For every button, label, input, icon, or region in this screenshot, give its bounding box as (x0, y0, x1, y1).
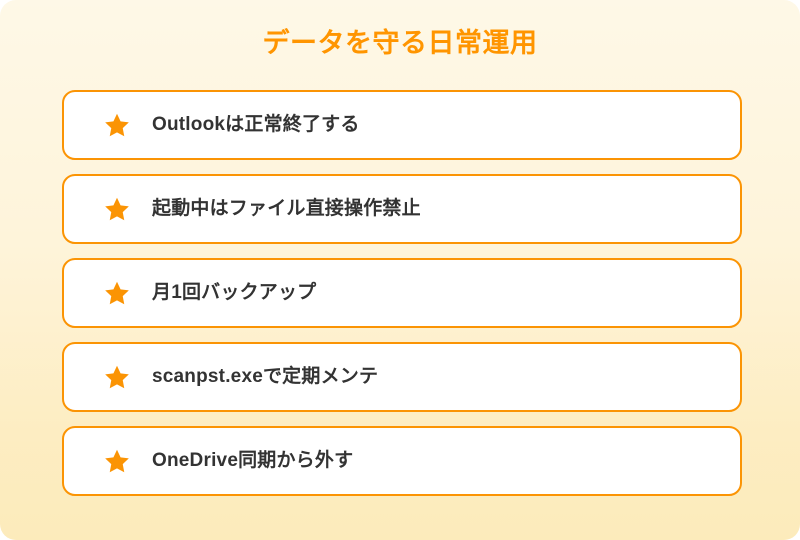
list-item-label: Outlookは正常終了する (152, 114, 360, 137)
star-icon (104, 448, 130, 474)
slide-root: データを守る日常運用 Outlookは正常終了する 起動中はファイル直接操作禁止… (0, 0, 800, 540)
checklist: Outlookは正常終了する 起動中はファイル直接操作禁止 月1回バックアップ … (62, 90, 742, 496)
star-icon (104, 196, 130, 222)
list-item[interactable]: OneDrive同期から外す (62, 426, 742, 496)
list-item[interactable]: 起動中はファイル直接操作禁止 (62, 174, 742, 244)
list-item-label: 月1回バックアップ (152, 282, 316, 305)
star-icon (104, 280, 130, 306)
list-item[interactable]: scanpst.exeで定期メンテ (62, 342, 742, 412)
star-icon (104, 112, 130, 138)
page-title: データを守る日常運用 (0, 26, 800, 61)
list-item-label: 起動中はファイル直接操作禁止 (152, 198, 421, 221)
list-item[interactable]: Outlookは正常終了する (62, 90, 742, 160)
star-icon (104, 364, 130, 390)
list-item[interactable]: 月1回バックアップ (62, 258, 742, 328)
list-item-label: OneDrive同期から外す (152, 450, 353, 473)
list-item-label: scanpst.exeで定期メンテ (152, 366, 378, 389)
